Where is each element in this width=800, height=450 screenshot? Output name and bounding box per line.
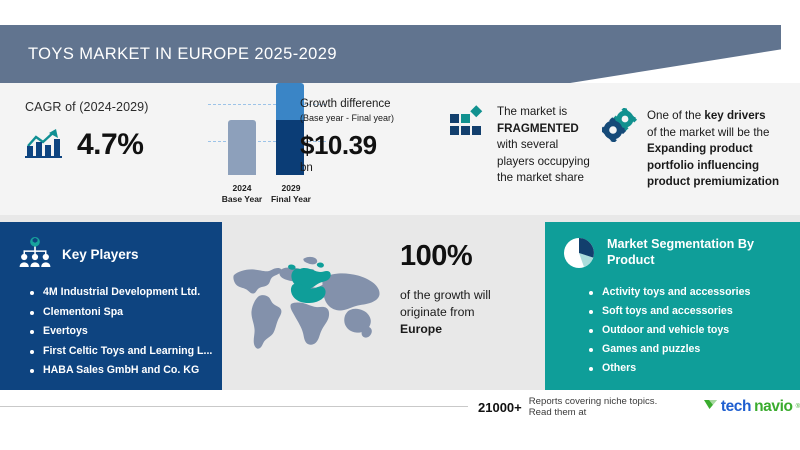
list-item: Others (589, 359, 800, 378)
growth-difference-block: Growth difference (Base year - Final yea… (300, 98, 450, 174)
segmentation-panel: Market Segmentation By Product Activity … (545, 222, 800, 390)
footer-text: Reports covering niche topics. Read them… (529, 396, 681, 418)
fragmented-squares-icon (450, 104, 486, 149)
key-driver-text: One of the key drivers of the market wil… (647, 108, 793, 191)
segmentation-list: Activity toys and accessories Soft toys … (589, 283, 800, 378)
list-item: Activity toys and accessories (589, 283, 800, 302)
region-growth-description: of the growth will originate from Europe (400, 287, 540, 338)
list-item: First Celtic Toys and Learning L... (30, 342, 222, 362)
region-growth-stat: 100% of the growth will originate from E… (400, 240, 540, 338)
bar-base-year (228, 120, 256, 175)
market-structure-text: The market is FRAGMENTED with several pl… (497, 104, 619, 187)
market-structure-block: The market is FRAGMENTED with several pl… (450, 104, 619, 187)
logo-text-tech: tech (721, 398, 751, 416)
list-item: Clementoni Spa (30, 303, 222, 323)
cagr-label: CAGR of (2024-2029) (25, 100, 210, 114)
logo-trademark: ® (796, 404, 800, 410)
logo-text-navio: navio (754, 398, 792, 416)
list-item: Outdoor and vehicle toys (589, 321, 800, 340)
region-growth-panel: 100% of the growth will originate from E… (222, 222, 545, 390)
key-players-list: 4M Industrial Development Ltd. Clementon… (30, 283, 222, 381)
growth-difference-value: $10.39 (300, 130, 450, 161)
world-map (230, 254, 400, 354)
infographic-canvas: TOYS MARKET IN EUROPE 2025-2029 CAGR of … (0, 0, 800, 450)
bar-label-2029: 2029 Final Year (262, 183, 320, 205)
header-bar: TOYS MARKET IN EUROPE 2025-2029 (0, 25, 781, 83)
growth-difference-unit: bn (300, 162, 450, 174)
list-item: Soft toys and accessories (589, 302, 800, 321)
segmentation-title: Market Segmentation By Product (607, 236, 757, 268)
people-network-icon (17, 235, 53, 274)
footer-divider (0, 406, 468, 407)
region-growth-percent: 100% (400, 240, 540, 273)
list-item: HABA Sales GmbH and Co. KG (30, 361, 222, 381)
technavio-logo[interactable]: technavio® (704, 398, 800, 416)
pie-chart-icon (562, 236, 596, 275)
key-players-title: Key Players (62, 247, 139, 262)
report-count: 21000+ (478, 400, 522, 415)
list-item: Evertoys (30, 322, 222, 342)
growth-difference-title: Growth difference (300, 98, 450, 111)
cagr-value: 4.7% (77, 128, 143, 162)
footer: 21000+ Reports covering niche topics. Re… (0, 390, 800, 450)
list-item: 4M Industrial Development Ltd. (30, 283, 222, 303)
logo-arrow-icon (704, 398, 718, 416)
growth-difference-subtitle: (Base year - Final year) (300, 112, 450, 124)
pointer-arrow-icon (278, 109, 302, 116)
key-driver-block: One of the key drivers of the market wil… (602, 108, 793, 191)
key-players-panel: Key Players 4M Industrial Development Lt… (0, 222, 222, 390)
gears-icon (602, 108, 638, 147)
growth-bar-chart-icon (25, 126, 65, 163)
page-title: TOYS MARKET IN EUROPE 2025-2029 (0, 45, 337, 64)
list-item: Games and puzzles (589, 340, 800, 359)
cagr-block: CAGR of (2024-2029) 4.7% (25, 100, 210, 163)
